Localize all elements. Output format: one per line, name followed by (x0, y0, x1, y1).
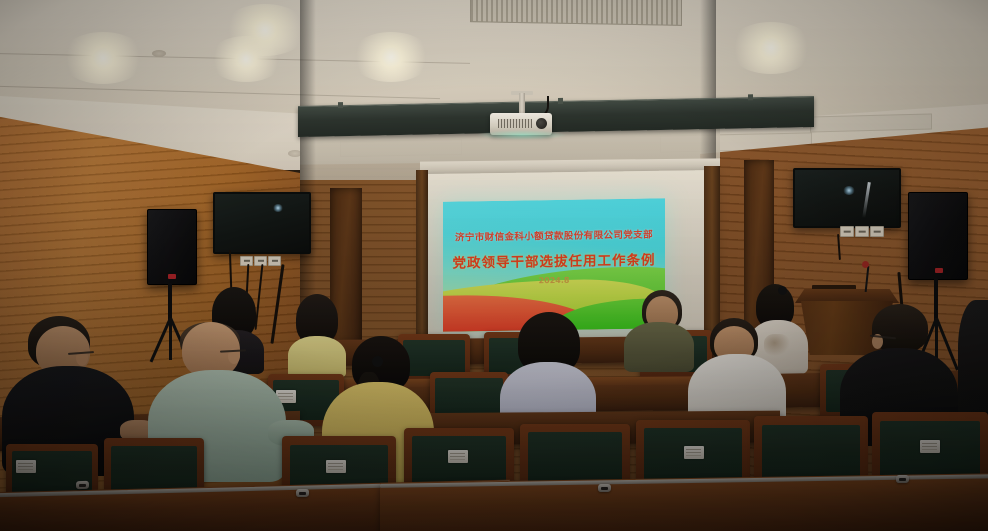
wall-outlet[interactable] (840, 226, 854, 237)
screen-post-left (416, 170, 428, 360)
ac-vent-ceiling-far-right (810, 114, 932, 133)
torso (958, 300, 988, 420)
speaker-tripod-leg (169, 318, 172, 360)
left-pa-speaker (147, 209, 197, 285)
wall-outlet[interactable] (870, 226, 884, 237)
ceiling-downlight (208, 36, 284, 82)
desk-power-port[interactable] (896, 475, 909, 483)
right-pa-speaker (908, 192, 968, 280)
wall-outlet[interactable] (855, 226, 869, 237)
projector-lens-icon (536, 118, 547, 129)
torso (624, 322, 694, 372)
ceiling-downlight (60, 32, 146, 84)
left-wall-monitor[interactable] (213, 192, 311, 254)
smoke-detector-icon (152, 50, 166, 57)
microphone-icon (862, 261, 869, 268)
ac-vent-ceiling-main (470, 0, 682, 26)
hair-tie (778, 286, 787, 295)
projector-glow (476, 130, 568, 140)
wall-outlet[interactable] (268, 256, 281, 266)
blouse-pattern (764, 334, 790, 356)
desk-power-port[interactable] (598, 484, 611, 492)
desk-power-port[interactable] (76, 481, 89, 489)
screen-glint-icon (843, 186, 855, 195)
slide-main-title: 党政领导干部选拔任用工作条例 (443, 248, 665, 271)
speaker-brand-badge (935, 268, 943, 273)
conference-room-photo: 济宁市财信金科小额贷款股份有限公司党支部 党政领导干部选拔任用工作条例 2024… (0, 0, 988, 531)
right-wall-monitor[interactable] (793, 168, 901, 228)
speaker-brand-badge (168, 274, 176, 279)
lectern-top (795, 289, 899, 303)
screen-reflection (862, 182, 871, 218)
hair-tie (372, 356, 383, 367)
projector-vent (498, 119, 532, 128)
ceiling-downlight (350, 32, 432, 82)
screen-glint-icon (273, 204, 283, 212)
desk-power-port[interactable] (296, 489, 309, 497)
torso (288, 336, 346, 378)
ceiling-downlight (728, 22, 814, 74)
